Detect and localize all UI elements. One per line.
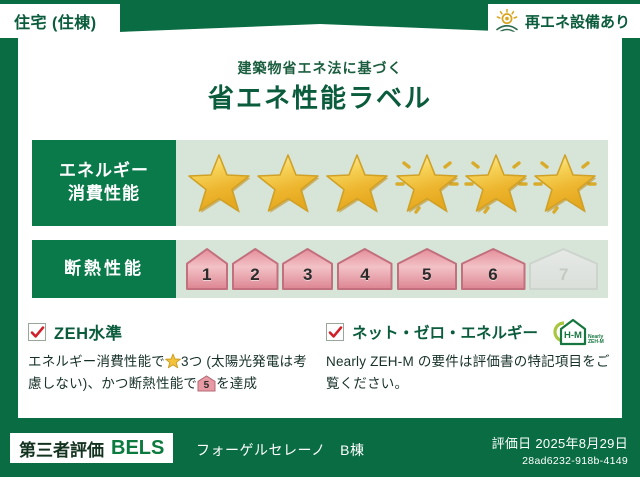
- evaluation-id: 28ad6232-918b-4149: [492, 455, 628, 467]
- inline-house-badge: 5: [197, 375, 216, 392]
- insulation-level-house-filled: 6: [460, 247, 527, 291]
- star-icon: [255, 151, 321, 215]
- energy-label-card: 住宅 (住棟) 再エネ設備あり 建築物省エネ法に基づく 省エネ性能ラベル: [0, 0, 640, 477]
- zeh-body-post: を達成: [216, 376, 257, 391]
- page-title: 省エネ性能ラベル: [0, 78, 640, 115]
- bels-badge: 第三者評価 BELS: [10, 433, 173, 463]
- zeh-standard-title: ZEH水準: [54, 320, 123, 344]
- svg-text:5: 5: [204, 380, 210, 391]
- insulation-level-house-filled: 2: [231, 247, 280, 291]
- evaluation-info: 評価日 2025年8月29日 28ad6232-918b-4149: [492, 433, 628, 467]
- insulation-scale-area: 1 2 3 4 5: [176, 240, 608, 298]
- energy-label-line1: エネルギー: [59, 160, 149, 183]
- check-icon: [28, 323, 46, 341]
- net-zero-energy-block: ネット・ゼロ・エネルギー H-M Nearly ZEH-M Nearly ZEH…: [326, 320, 612, 395]
- building-name: フォーゲルセレーノ B棟: [196, 440, 365, 460]
- energy-performance-label: エネルギー 消費性能: [32, 140, 176, 226]
- renewable-energy-sun-icon: [494, 8, 520, 34]
- net-zero-title: ネット・ゼロ・エネルギー: [352, 321, 538, 343]
- net-zero-body: Nearly ZEH-M の要件は評価書の特記項目をご覧ください。: [326, 351, 612, 395]
- insulation-scale: 1 2 3 4 5: [176, 240, 608, 298]
- net-zero-header: ネット・ゼロ・エネルギー H-M Nearly ZEH-M: [326, 320, 612, 344]
- zeh-standard-block: ZEH水準 エネルギー消費性能で 3つ (太陽光発電は考慮しない)、かつ断熱性能…: [28, 320, 314, 395]
- insulation-level-number: 7: [559, 265, 568, 291]
- evaluation-date: 評価日 2025年8月29日: [492, 433, 628, 452]
- energy-label-line2: 消費性能: [68, 183, 140, 206]
- insulation-level-number: 6: [488, 265, 497, 291]
- insulation-level-number: 1: [202, 265, 211, 291]
- zeh-m-logo-icon: H-M Nearly ZEH-M: [548, 317, 604, 347]
- insulation-level-number: 3: [303, 265, 312, 291]
- insulation-performance-row: 断熱性能 1 2 3 4: [32, 240, 608, 298]
- energy-stars-area: [176, 140, 608, 226]
- svg-text:ZEH-M: ZEH-M: [588, 339, 604, 345]
- zeh-standard-body: エネルギー消費性能で 3つ (太陽光発電は考慮しない)、かつ断熱性能で 5 を達…: [28, 351, 314, 395]
- star-icon: [324, 151, 390, 215]
- insulation-level-number: 4: [360, 265, 369, 291]
- star-icon-solar: [532, 151, 598, 215]
- label-subtitle: 建築物省エネ法に基づく: [0, 58, 640, 78]
- check-icon: [326, 323, 344, 341]
- inline-star-icon: [165, 353, 181, 369]
- insulation-level-number: 2: [250, 265, 259, 291]
- energy-performance-row: エネルギー 消費性能: [32, 140, 608, 226]
- insulation-level-house-filled: 3: [281, 247, 334, 291]
- bels-jp-label: 第三者評価: [19, 436, 104, 461]
- bels-en-label: BELS: [111, 437, 164, 460]
- zeh-standard-header: ZEH水準: [28, 320, 314, 344]
- renewable-equipment-label: 再エネ設備あり: [525, 11, 630, 32]
- insulation-level-house-filled: 4: [336, 247, 394, 291]
- insulation-level-house-filled: 5: [396, 247, 458, 291]
- star-icon-solar: [463, 151, 529, 215]
- insulation-performance-label: 断熱性能: [32, 240, 176, 298]
- building-type-label: 住宅 (住棟): [14, 9, 97, 33]
- insulation-level-house-empty: 7: [528, 247, 599, 291]
- star-rating: [176, 140, 608, 226]
- zeh-body-pre: エネルギー消費性能で: [28, 354, 165, 369]
- star-icon: [186, 151, 252, 215]
- star-icon-solar: [394, 151, 460, 215]
- svg-text:H-M: H-M: [564, 330, 582, 341]
- insulation-level-house-filled: 1: [185, 247, 229, 291]
- footer: 第三者評価 BELS フォーゲルセレーノ B棟 評価日 2025年8月29日 2…: [0, 421, 640, 477]
- insulation-level-number: 5: [422, 265, 431, 291]
